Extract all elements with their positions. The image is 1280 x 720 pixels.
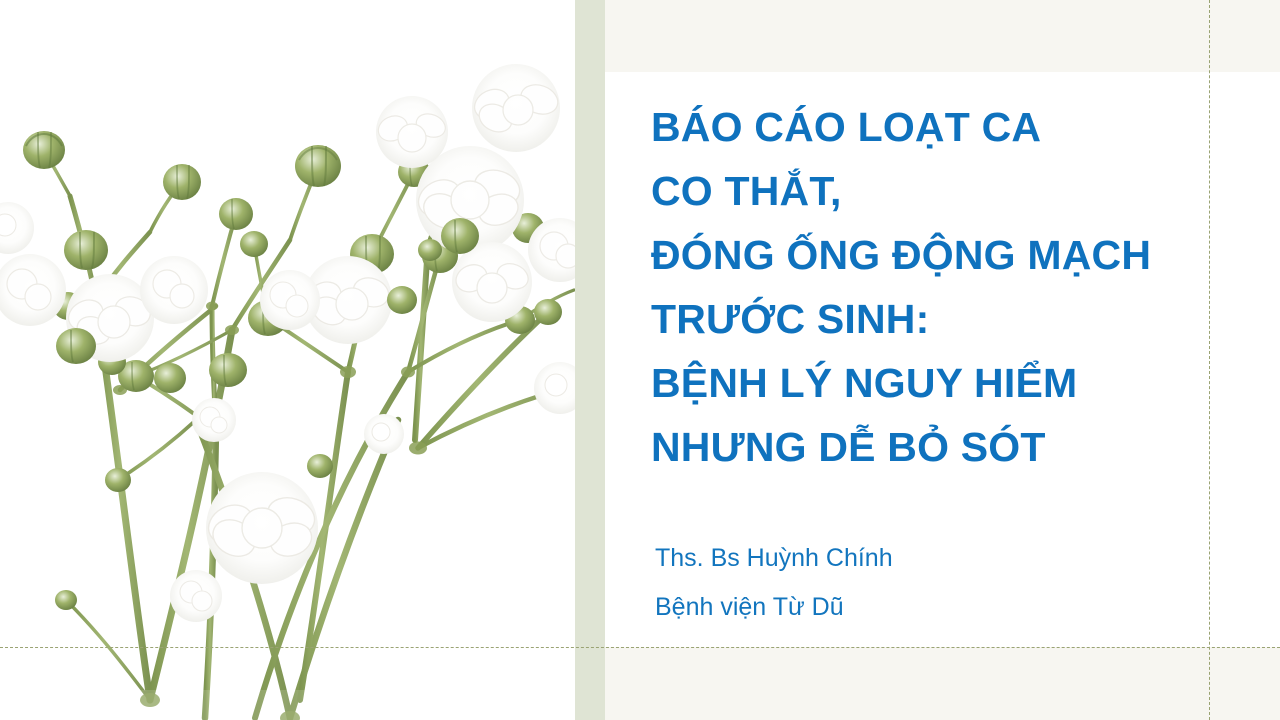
author-block: Ths. Bs Huỳnh Chính Bệnh viện Từ Dũ — [655, 534, 1175, 632]
author-affiliation: Bệnh viện Từ Dũ — [655, 583, 1175, 632]
babys-breath-flowers-photo — [0, 0, 575, 720]
title-line-3: ĐÓNG ỐNG ĐỘNG MẠCH — [651, 223, 1251, 287]
page-title: BÁO CÁO LOẠT CA CO THẮT, ĐÓNG ỐNG ĐỘNG M… — [651, 95, 1251, 479]
title-line-1: BÁO CÁO LOẠT CA — [651, 95, 1251, 159]
presentation-slide: BÁO CÁO LOẠT CA CO THẮT, ĐÓNG ỐNG ĐỘNG M… — [0, 0, 1280, 720]
cream-band-bottom — [605, 647, 1280, 720]
green-accent-band — [575, 0, 605, 720]
author-name: Ths. Bs Huỳnh Chính — [655, 534, 1175, 583]
title-line-5: BỆNH LÝ NGUY HIỂM — [651, 351, 1251, 415]
title-line-4: TRƯỚC SINH: — [651, 287, 1251, 351]
title-line-2: CO THẮT, — [651, 159, 1251, 223]
title-line-6: NHƯNG DỄ BỎ SÓT — [651, 415, 1251, 479]
horizontal-guide-line — [0, 647, 1280, 648]
cream-band-top — [605, 0, 1280, 72]
